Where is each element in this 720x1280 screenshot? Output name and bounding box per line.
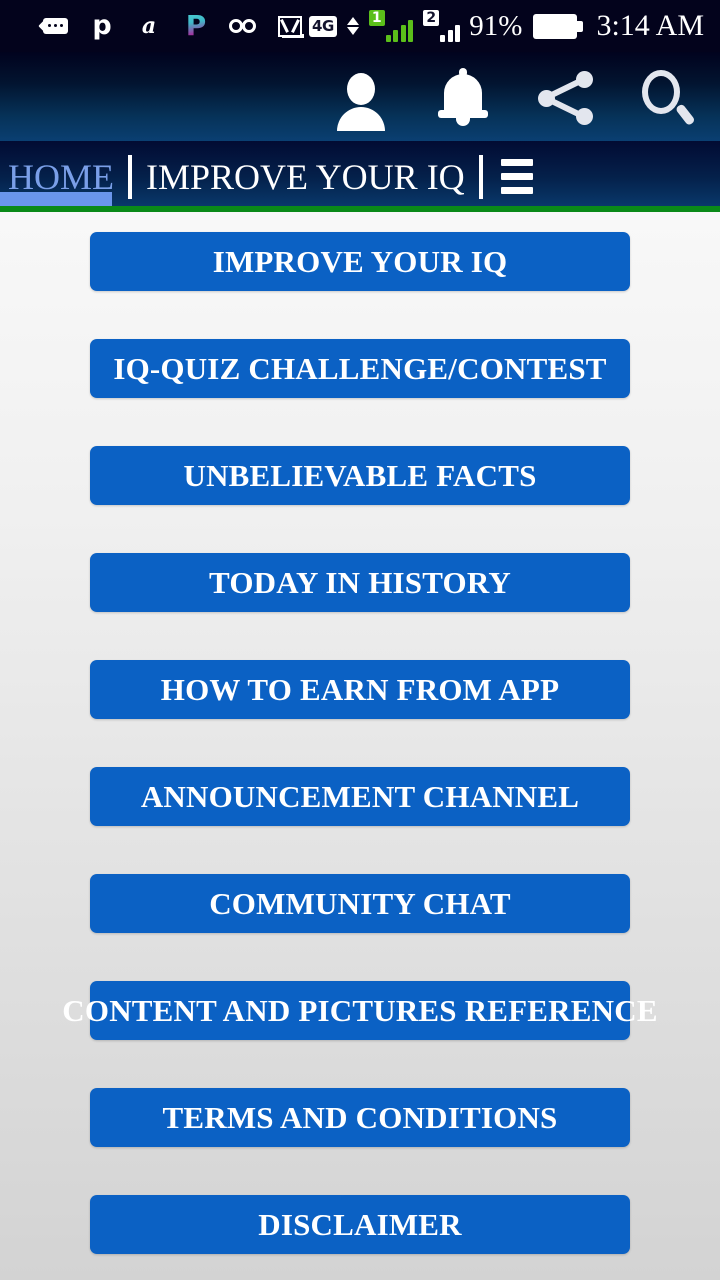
profile-icon[interactable]	[330, 66, 392, 128]
share-icon[interactable]	[534, 66, 596, 128]
menu-button-label: IQ-QUIZ CHALLENGE/CONTEST	[113, 352, 606, 386]
nav-bar: HOME IMPROVE YOUR IQ	[0, 141, 720, 212]
menu-button[interactable]: IMPROVE YOUR IQ	[90, 232, 630, 291]
sim1-label: 1	[369, 10, 385, 26]
hamburger-menu-icon[interactable]	[483, 141, 551, 212]
status-bar-notification-icons: p a P	[0, 11, 305, 41]
menu-button-list: IMPROVE YOUR IQIQ-QUIZ CHALLENGE/CONTEST…	[0, 232, 720, 1254]
menu-button-label: IMPROVE YOUR IQ	[213, 245, 508, 279]
menu-button[interactable]: UNBELIEVABLE FACTS	[90, 446, 630, 505]
menu-button-label: CONTENT AND PICTURES REFERENCE	[62, 994, 657, 1028]
menu-button-label: ANNOUNCEMENT CHANNEL	[141, 780, 579, 814]
tab-home-label: HOME	[8, 157, 114, 197]
status-bar: p a P 4G 1	[0, 0, 720, 52]
pinterest-icon: P	[181, 11, 211, 41]
network-type-badge: 4G	[309, 16, 337, 37]
menu-button-label: TERMS AND CONDITIONS	[162, 1101, 557, 1135]
app-p-icon: p	[87, 11, 117, 41]
sim1-signal-icon: 1	[369, 10, 414, 42]
status-bar-system-icons: 4G 1 2 91% 3:14 AM	[309, 9, 720, 43]
infinity-icon	[228, 11, 258, 41]
menu-button-label: UNBELIEVABLE FACTS	[183, 459, 536, 493]
tab-improve-your-iq-label: IMPROVE YOUR IQ	[146, 157, 465, 197]
menu-button[interactable]: TODAY IN HISTORY	[90, 553, 630, 612]
battery-percent-label: 91%	[469, 10, 522, 42]
menu-button-label: COMMUNITY CHAT	[209, 887, 511, 921]
menu-button[interactable]: DISCLAIMER	[90, 1195, 630, 1254]
menu-button[interactable]: ANNOUNCEMENT CHANNEL	[90, 767, 630, 826]
app-header	[0, 52, 720, 141]
tab-home[interactable]: HOME	[0, 141, 128, 212]
app-script-icon: a	[134, 11, 164, 41]
gmail-icon	[275, 11, 305, 41]
chat-bubble-icon	[40, 11, 70, 41]
active-tab-underline	[0, 192, 112, 206]
search-icon[interactable]	[636, 66, 698, 128]
menu-button[interactable]: CONTENT AND PICTURES REFERENCE	[90, 981, 630, 1040]
tab-improve-your-iq[interactable]: IMPROVE YOUR IQ	[132, 141, 479, 212]
menu-button[interactable]: COMMUNITY CHAT	[90, 874, 630, 933]
notifications-bell-icon[interactable]	[432, 66, 494, 128]
battery-icon	[533, 14, 577, 39]
sim2-label: 2	[423, 10, 439, 26]
data-transfer-arrows-icon	[347, 17, 359, 35]
sim2-signal-icon: 2	[423, 10, 460, 42]
clock-label: 3:14 AM	[596, 9, 704, 43]
menu-button[interactable]: TERMS AND CONDITIONS	[90, 1088, 630, 1147]
main-content: IMPROVE YOUR IQIQ-QUIZ CHALLENGE/CONTEST…	[0, 212, 720, 1280]
menu-button-label: DISCLAIMER	[258, 1208, 462, 1242]
menu-button[interactable]: HOW TO EARN FROM APP	[90, 660, 630, 719]
header-action-icons	[330, 66, 720, 128]
menu-button-label: HOW TO EARN FROM APP	[161, 673, 559, 707]
menu-button[interactable]: IQ-QUIZ CHALLENGE/CONTEST	[90, 339, 630, 398]
app-screen: p a P 4G 1	[0, 0, 720, 1280]
menu-button-label: TODAY IN HISTORY	[209, 566, 511, 600]
